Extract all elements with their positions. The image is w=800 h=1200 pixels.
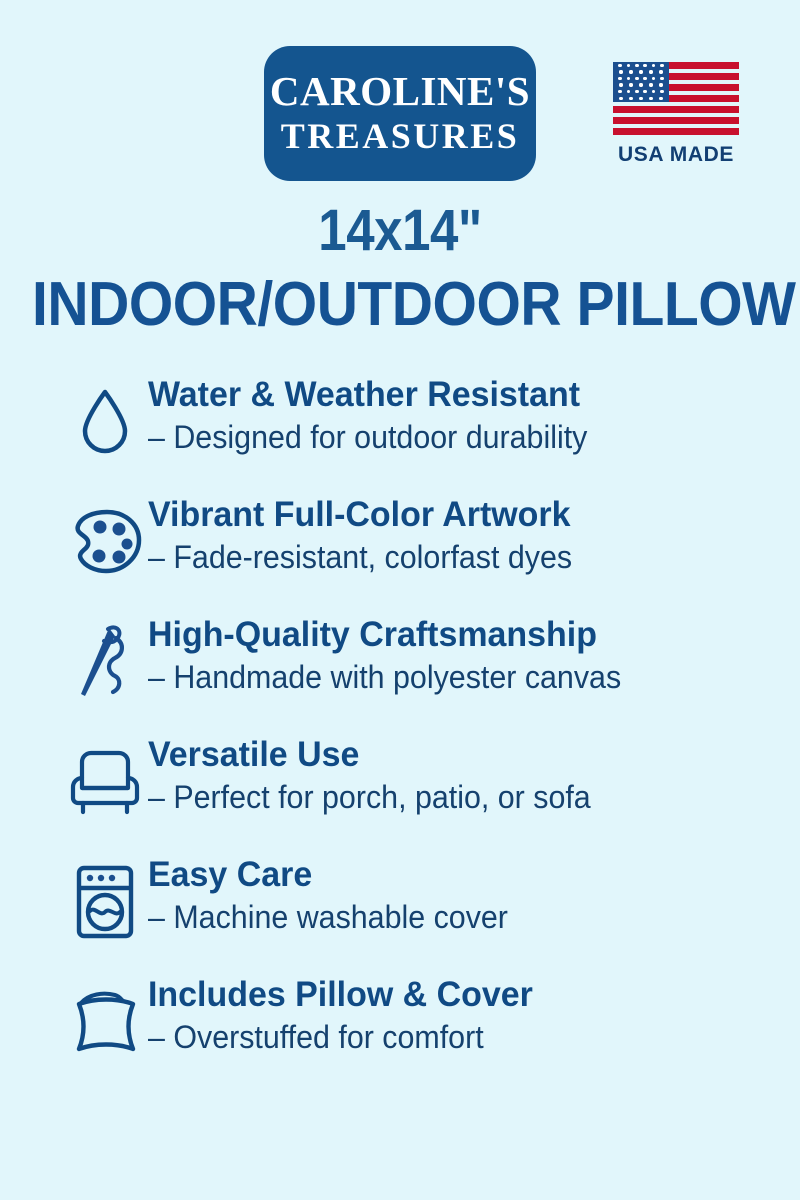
feature-item: Water & Weather Resistant – Designed for… [62, 371, 800, 491]
water-drop-icon [62, 371, 148, 471]
header: CAROLINE'S TREASURES USA MADE [0, 0, 800, 190]
flag-canton [613, 62, 669, 102]
feature-subtitle: – Overstuffed for comfort [148, 1018, 525, 1056]
feature-title: Easy Care [148, 855, 516, 894]
product-title: 14x14" INDOOR/OUTDOOR PILLOW [0, 202, 800, 337]
feature-title: High-Quality Craftsmanship [148, 615, 631, 654]
armchair-icon [62, 731, 148, 831]
needle-thread-icon [62, 611, 148, 711]
product-type-label: INDOOR/OUTDOOR PILLOW [32, 272, 768, 337]
feature-list: Water & Weather Resistant – Designed for… [0, 371, 800, 1091]
feature-item: Versatile Use – Perfect for porch, patio… [62, 731, 800, 851]
feature-title: Vibrant Full-Color Artwork [148, 495, 581, 534]
feature-subtitle: – Machine washable cover [148, 898, 508, 936]
pillow-cover-icon [62, 971, 148, 1071]
paint-palette-icon [62, 491, 148, 591]
feature-item: Easy Care – Machine washable cover [62, 851, 800, 971]
logo-line-secondary: TREASURES [281, 114, 520, 159]
us-flag-icon [613, 62, 739, 136]
logo-line-primary: CAROLINE'S [270, 70, 530, 113]
feature-title: Versatile Use [148, 735, 600, 774]
washing-machine-icon [62, 851, 148, 951]
pillow-size-label: 14x14" [48, 202, 752, 260]
feature-item: Vibrant Full-Color Artwork – Fade-resist… [62, 491, 800, 611]
feature-subtitle: – Designed for outdoor durability [148, 418, 587, 456]
usa-made-label: USA MADE [608, 143, 744, 167]
feature-item: High-Quality Craftsmanship – Handmade wi… [62, 611, 800, 731]
carolines-treasures-logo: CAROLINE'S TREASURES [264, 46, 536, 181]
feature-item: Includes Pillow & Cover – Overstuffed fo… [62, 971, 800, 1091]
feature-subtitle: – Perfect for porch, patio, or sofa [148, 778, 591, 816]
feature-subtitle: – Fade-resistant, colorfast dyes [148, 538, 572, 576]
usa-made-badge: USA MADE [608, 62, 744, 167]
feature-subtitle: – Handmade with polyester canvas [148, 658, 621, 696]
feature-title: Water & Weather Resistant [148, 375, 597, 414]
feature-title: Includes Pillow & Cover [148, 975, 533, 1014]
